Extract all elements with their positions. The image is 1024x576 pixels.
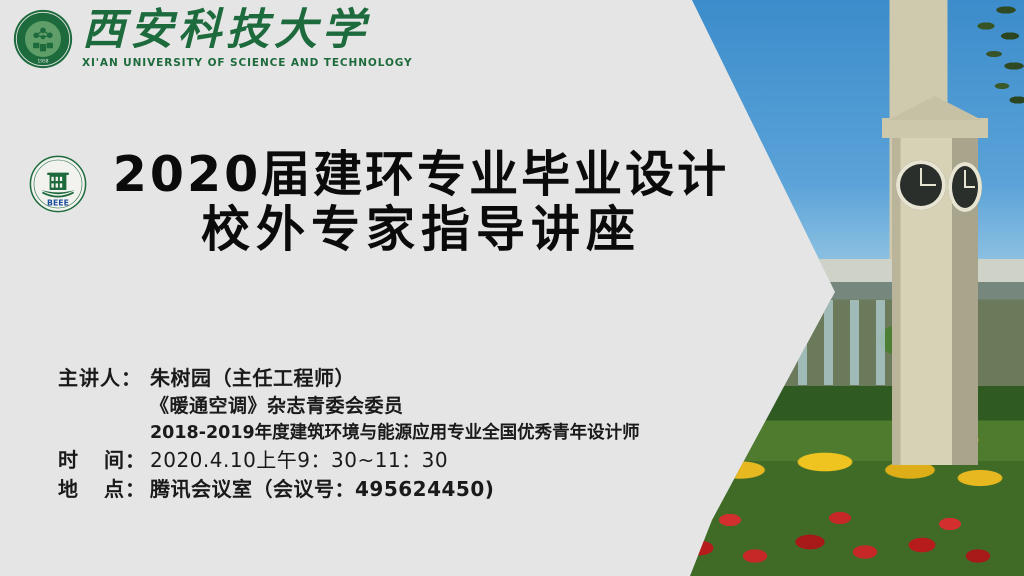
university-name-en: XI'AN UNIVERSITY OF SCIENCE AND TECHNOLO…	[82, 58, 413, 69]
speaker-label: 主讲人：	[58, 364, 150, 393]
time-label-b: 间：	[104, 446, 146, 475]
university-brand: 1958 西安科技大学 XI'AN UNIVERSITY OF SCIENCE …	[12, 8, 413, 70]
place-row: 地 点： 腾讯会议室（会议号：495624450)	[58, 475, 640, 504]
building-windows	[720, 300, 920, 385]
place-label-a: 地	[58, 475, 79, 504]
time-label-a: 时	[58, 446, 79, 475]
event-details: 主讲人： 朱树园（主任工程师） 《暖通空调》杂志青委会委员 2018-2019年…	[58, 364, 640, 504]
time-value: 2020.4.10上午9：30~11：30	[150, 446, 448, 475]
place-label-b: 点：	[104, 475, 146, 504]
university-name-cn: 西安科技大学	[82, 9, 413, 52]
time-row: 时 间： 2020.4.10上午9：30~11：30	[58, 446, 640, 475]
svg-text:BEEE: BEEE	[47, 199, 69, 208]
speaker-award: 2018-2019年度建筑环境与能源应用专业全国优秀青年设计师	[150, 421, 640, 446]
title-block: BEEE 2020届建环专业毕业设计 校外专家指导讲座	[28, 148, 748, 258]
svg-text:1958: 1958	[37, 59, 48, 65]
campus-photo-scene	[660, 0, 1024, 576]
clock-face-icon	[896, 160, 946, 210]
department-seal-icon: BEEE	[28, 154, 88, 214]
university-name-block: 西安科技大学 XI'AN UNIVERSITY OF SCIENCE AND T…	[82, 9, 413, 69]
time-label: 时 间：	[58, 446, 150, 475]
speaker-row: 主讲人： 朱树园（主任工程师）	[58, 364, 640, 393]
place-value: 腾讯会议室（会议号：495624450)	[150, 475, 494, 504]
place-label: 地 点：	[58, 475, 150, 504]
clock-tower-cap	[882, 118, 988, 138]
title-line-1: 2020届建环专业毕业设计	[94, 148, 748, 203]
university-seal-icon: 1958	[12, 8, 74, 70]
speaker-affiliation: 《暖通空调》杂志青委会委员	[150, 393, 404, 421]
title-lines: 2020届建环专业毕业设计 校外专家指导讲座	[94, 148, 748, 258]
speaker-award-row: 2018-2019年度建筑环境与能源应用专业全国优秀青年设计师	[58, 421, 640, 446]
speaker-name: 朱树园（主任工程师）	[150, 364, 355, 393]
clock-face-icon	[948, 162, 982, 212]
title-line-2: 校外专家指导讲座	[94, 203, 748, 258]
tree-foliage	[914, 0, 1024, 120]
presentation-poster: 1958 西安科技大学 XI'AN UNIVERSITY OF SCIENCE …	[0, 0, 1024, 576]
speaker-affiliation-row: 《暖通空调》杂志青委会委员	[58, 393, 640, 421]
